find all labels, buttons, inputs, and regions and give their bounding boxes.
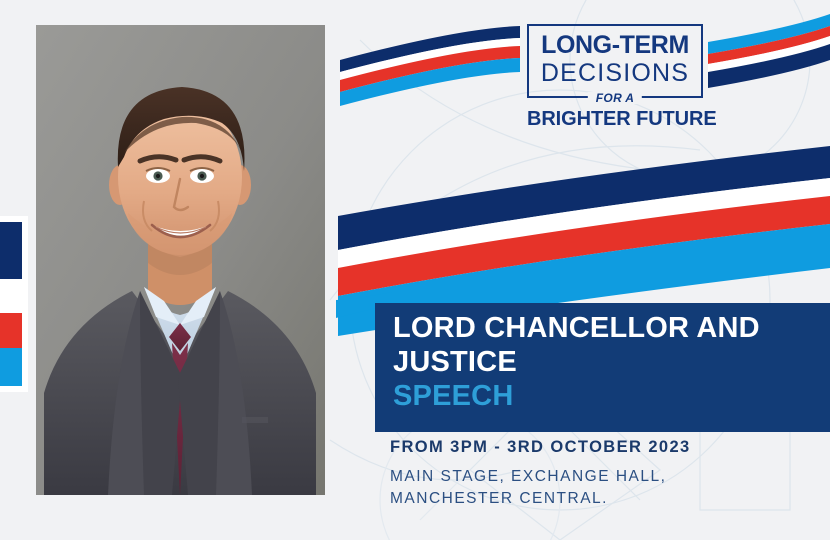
event-details: FROM 3PM - 3RD OCTOBER 2023 MAIN STAGE, … [390,438,691,511]
event-poster: LONG-TERM DECISIONS FOR A BRIGHTER FUTUR… [0,0,830,540]
logo-line-brighter-future: BRIGHTER FUTURE [527,109,703,129]
speaker-portrait-photo [36,25,325,495]
headline-panel: LORD CHANCELLOR AND JUSTICE SPEECH [375,303,830,432]
stripe-light-blue [0,348,22,386]
event-location-line-2: MANCHESTER CENTRAL. [390,488,691,510]
event-location: MAIN STAGE, EXCHANGE HALL, MANCHESTER CE… [390,466,691,511]
headline-text: LORD CHANCELLOR AND JUSTICE SPEECH [393,312,760,414]
headline-line-2: JUSTICE [393,346,760,380]
campaign-logo: LONG-TERM DECISIONS FOR A BRIGHTER FUTUR… [527,24,703,129]
logo-line-long-term: LONG-TERM [535,33,695,58]
logo-connector-for-a: FOR A [588,92,642,104]
headline-line-3: SPEECH [393,380,760,414]
event-datetime: FROM 3PM - 3RD OCTOBER 2023 [390,438,691,457]
portrait-illustration [36,25,325,495]
stripe-red [0,313,22,349]
headline-line-1: LORD CHANCELLOR AND [393,312,760,346]
stripe-navy [0,222,22,279]
event-location-line-1: MAIN STAGE, EXCHANGE HALL, [390,466,691,488]
logo-box: LONG-TERM DECISIONS FOR A [527,24,703,98]
stripe-white [0,279,22,313]
left-edge-stripe-block [0,222,22,386]
logo-line-decisions: DECISIONS [535,61,695,86]
